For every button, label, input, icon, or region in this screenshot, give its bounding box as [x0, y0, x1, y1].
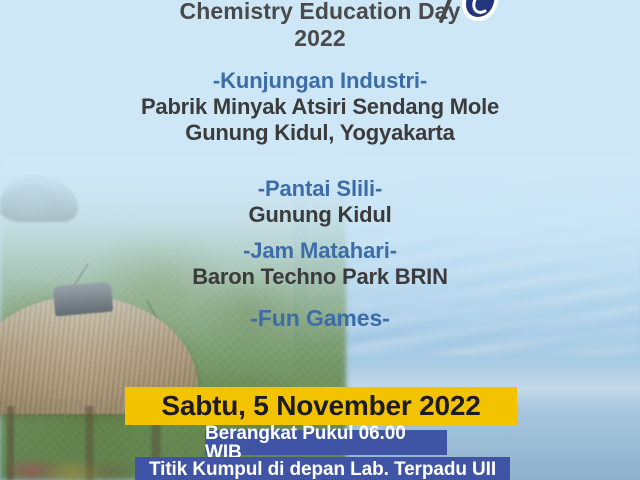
- date-banner: Sabtu, 5 November 2022: [125, 387, 517, 425]
- section-heading: -Kunjungan Industri-: [0, 68, 640, 94]
- section-jam-matahari: -Jam Matahari- Baron Techno Park BRIN: [0, 238, 640, 290]
- section-heading: -Pantai Slili-: [0, 176, 640, 202]
- section-line: Pabrik Minyak Atsiri Sendang Mole: [0, 94, 640, 120]
- section-kunjungan-industri: -Kunjungan Industri- Pabrik Minyak Atsir…: [0, 68, 640, 145]
- section-heading: -Jam Matahari-: [0, 238, 640, 264]
- departure-time-bar: Berangkat Pukul 06.00 WIB: [205, 430, 447, 455]
- section-line: Gunung Kidul: [0, 202, 640, 228]
- meeting-point-bar: Titik Kumpul di depan Lab. Terpadu UII: [135, 457, 510, 480]
- event-poster: Chemistry Education Day 2022 -Kunjungan …: [0, 0, 640, 480]
- section-pantai-slili: -Pantai Slili- Gunung Kidul: [0, 176, 640, 228]
- meeting-point-text: Titik Kumpul di depan Lab. Terpadu UII: [149, 460, 496, 479]
- section-line: Baron Techno Park BRIN: [0, 264, 640, 290]
- date-text: Sabtu, 5 November 2022: [161, 392, 480, 420]
- section-heading: -Fun Games-: [0, 305, 640, 333]
- departure-time-text: Berangkat Pukul 06.00 WIB: [205, 424, 447, 462]
- section-line: Gunung Kidul, Yogyakarta: [0, 120, 640, 146]
- section-fun-games: -Fun Games-: [0, 305, 640, 333]
- page-title: Chemistry Education Day 2022: [0, 0, 640, 52]
